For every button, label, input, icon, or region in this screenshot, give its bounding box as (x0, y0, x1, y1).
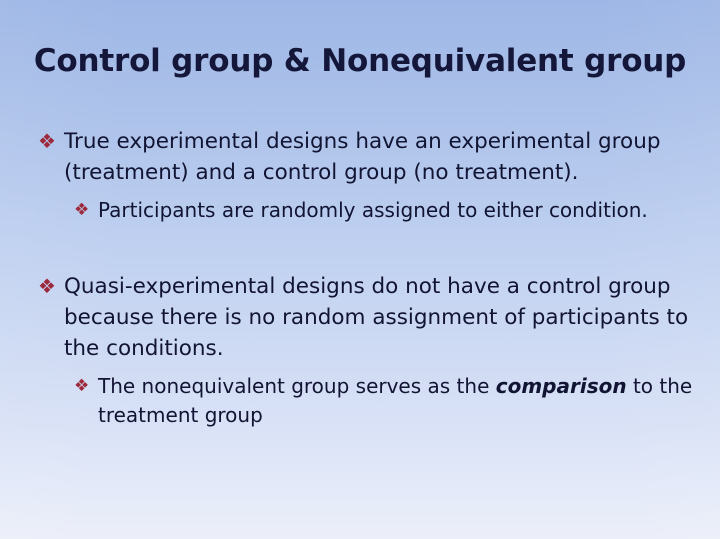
bullet-group-spacer (38, 225, 694, 271)
slide-body: ❖ True experimental designs have an expe… (38, 126, 694, 430)
bullet-text-sub-1-before: Participants are randomly assigned to ei… (98, 198, 648, 222)
bullet-text-sub-2: The nonequivalent group serves as the co… (98, 372, 694, 430)
bullet-item-sub-2: ❖ The nonequivalent group serves as the … (38, 372, 694, 430)
bullet-text-sub-2-emphasis: comparison (496, 374, 627, 398)
bullet-text-sub-2-before: The nonequivalent group serves as the (98, 374, 496, 398)
bullet-text-main-2: Quasi-experimental designs do not have a… (64, 271, 694, 364)
diamond-bullet-icon: ❖ (74, 372, 98, 395)
bullet-group-2: ❖ Quasi-experimental designs do not have… (38, 271, 694, 430)
presentation-slide: Control group & Nonequivalent group ❖ Tr… (0, 0, 720, 539)
diamond-bullet-icon: ❖ (38, 126, 64, 151)
bullet-item-sub-1: ❖ Participants are randomly assigned to … (38, 196, 694, 225)
diamond-bullet-icon: ❖ (74, 196, 98, 219)
bullet-text-main-1: True experimental designs have an experi… (64, 126, 694, 188)
slide-title: Control group & Nonequivalent group (0, 42, 720, 80)
bullet-item-main-1: ❖ True experimental designs have an expe… (38, 126, 694, 188)
bullet-item-main-2: ❖ Quasi-experimental designs do not have… (38, 271, 694, 364)
bullet-group-1: ❖ True experimental designs have an expe… (38, 126, 694, 225)
diamond-bullet-icon: ❖ (38, 271, 64, 296)
bullet-text-sub-1: Participants are randomly assigned to ei… (98, 196, 694, 225)
